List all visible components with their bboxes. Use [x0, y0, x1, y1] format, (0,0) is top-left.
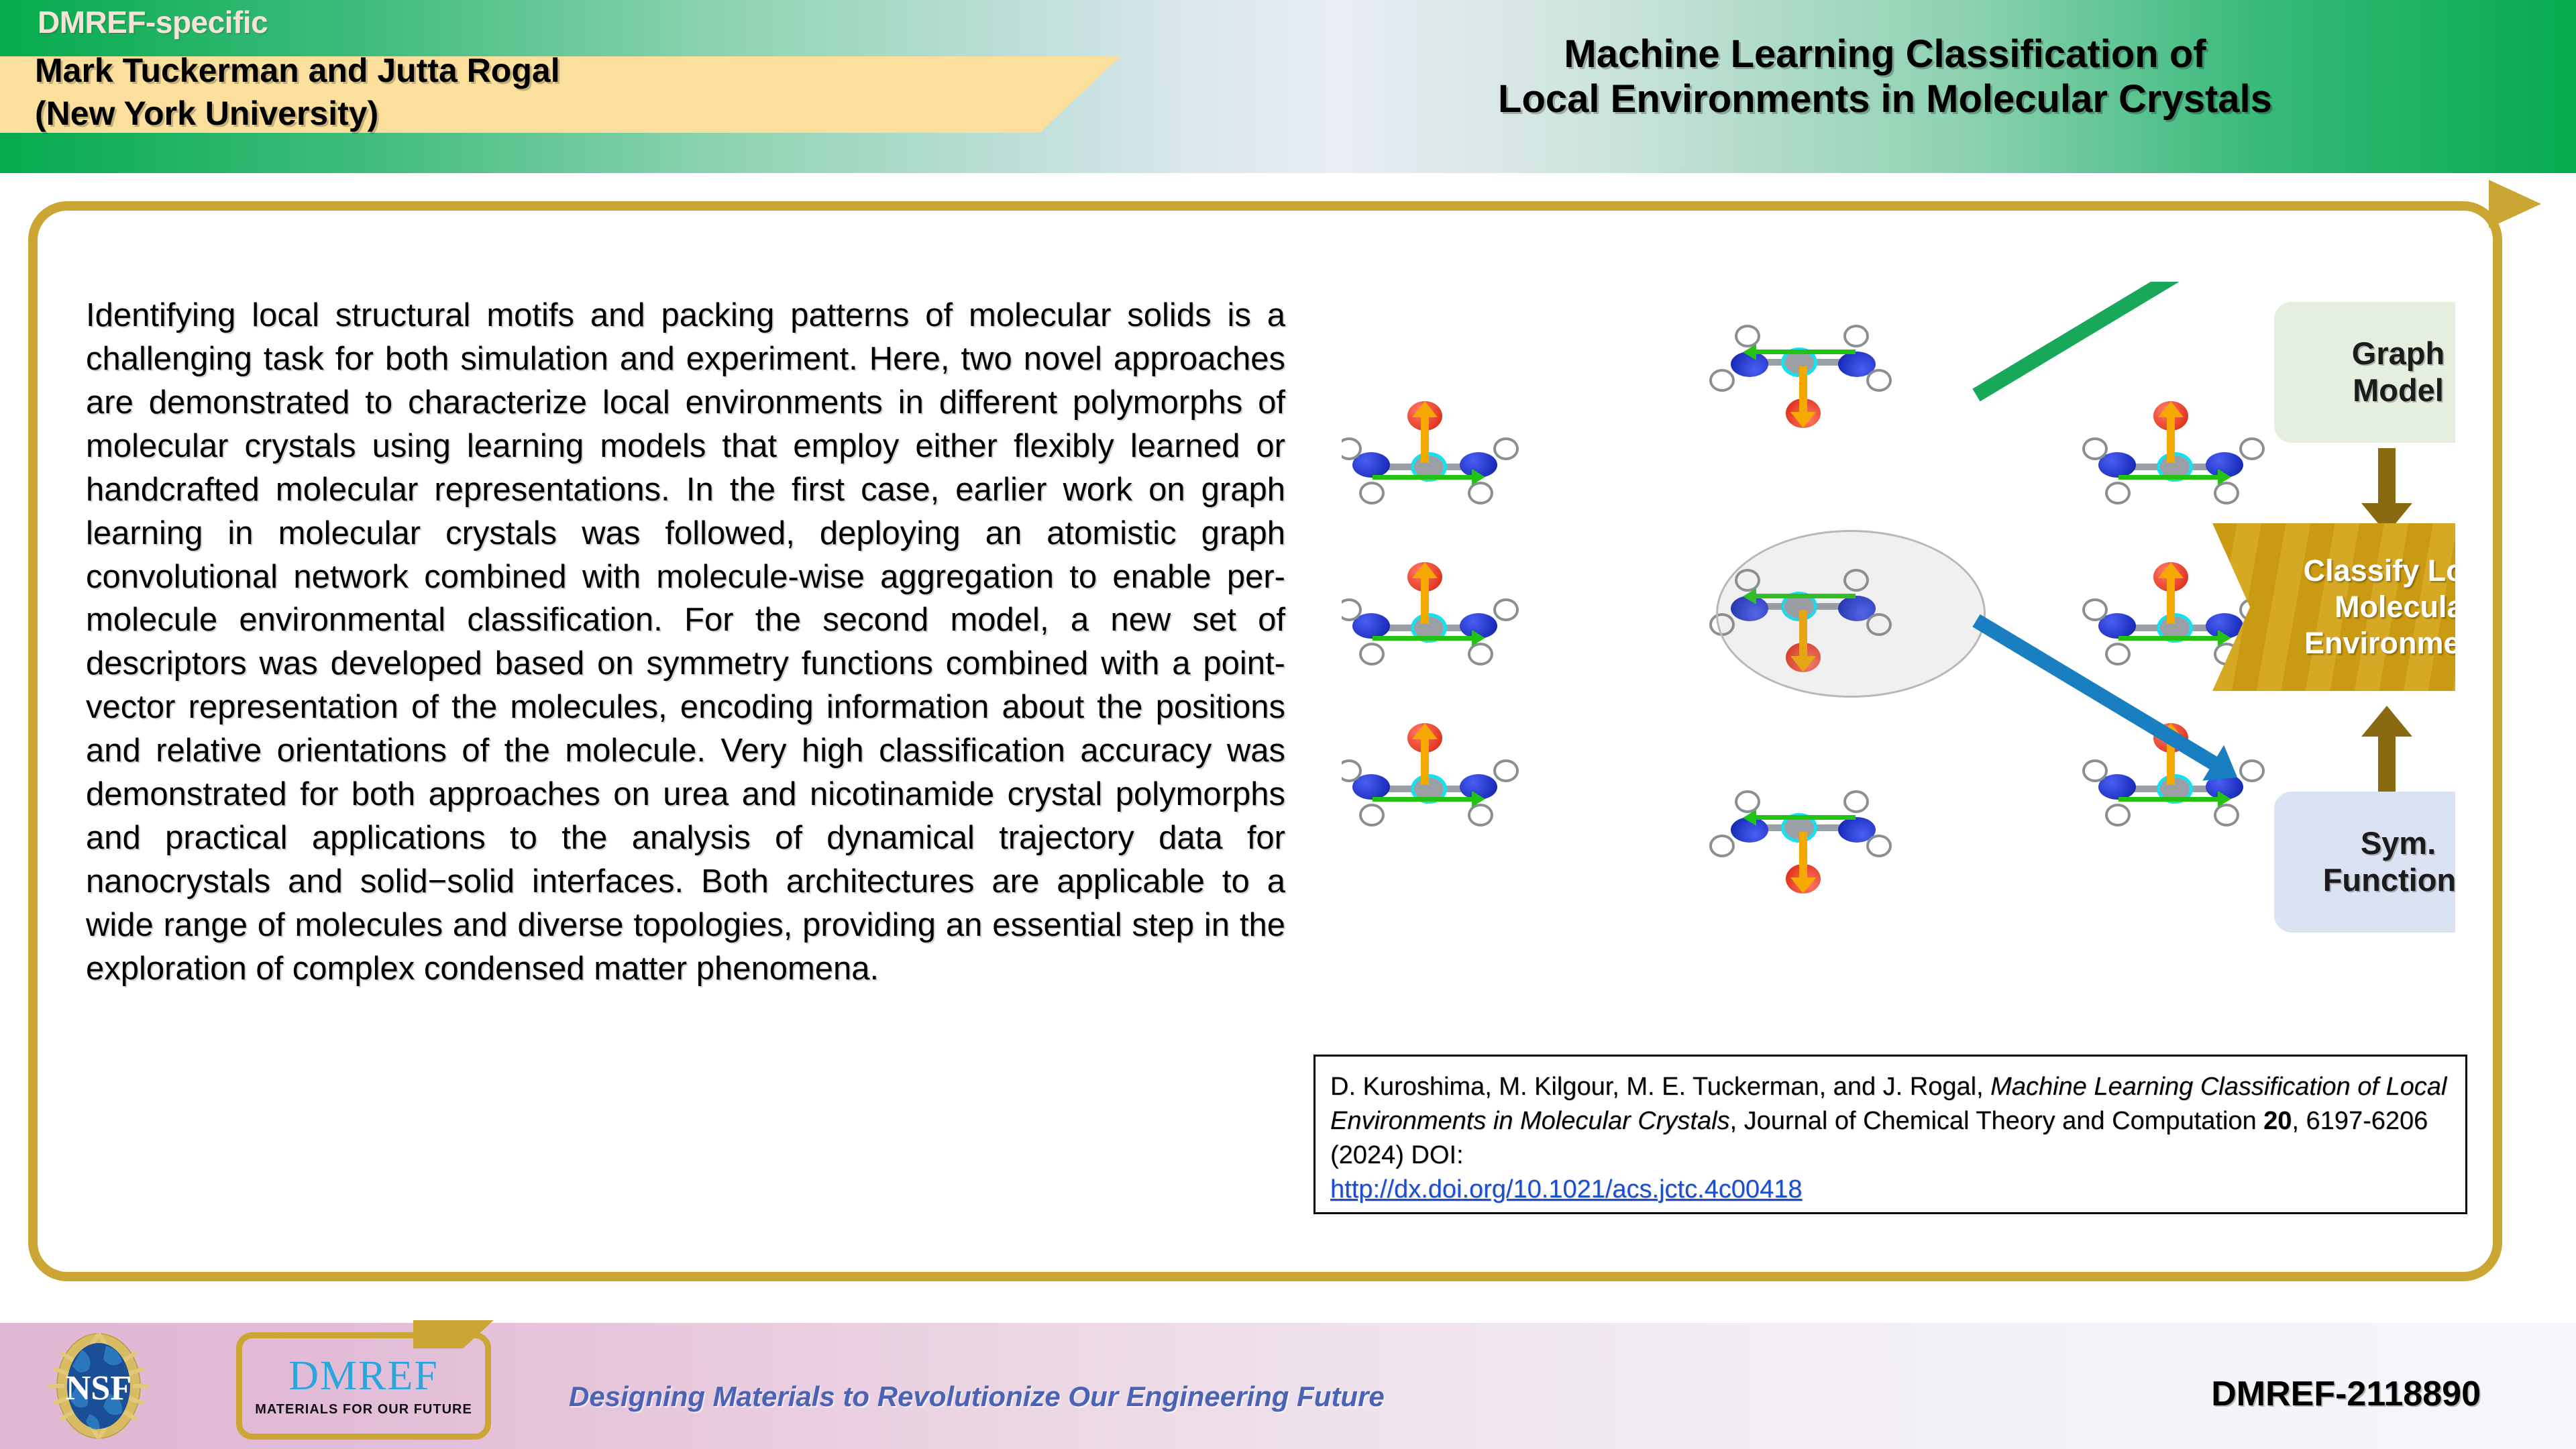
local-environment-highlight	[1716, 530, 1986, 698]
dmref-logo-tagline: MATERIALS FOR OUR FUTURE	[255, 1402, 472, 1417]
page-title-line2: Local Environments in Molecular Crystals	[1308, 77, 2462, 122]
abstract-text: Identifying local structural motifs and …	[86, 294, 1285, 991]
graph-model-box: Graph Model	[2274, 302, 2455, 443]
up-arrow-icon	[2378, 735, 2396, 792]
sym-functions-box: Sym. Functions	[2274, 792, 2455, 932]
citation-volume: 20	[2263, 1107, 2292, 1135]
author-names: Mark Tuckerman and Jutta Rogal	[35, 51, 560, 90]
citation-doi-link[interactable]: http://dx.doi.org/10.1021/acs.jctc.4c004…	[1330, 1173, 1802, 1207]
molecule-unit	[1725, 778, 1880, 899]
award-number: DMREF-2118890	[2211, 1374, 2481, 1414]
page-title-line1: Machine Learning Classification of	[1308, 32, 2462, 77]
program-tagline: Designing Materials to Revolutionize Our…	[569, 1381, 1385, 1413]
frame-arrow-icon	[2489, 180, 2541, 228]
svg-text:NSF: NSF	[66, 1369, 131, 1407]
molecule-unit	[1725, 313, 1880, 433]
citation-journal: , Journal of Chemical Theory and Computa…	[1730, 1107, 2264, 1135]
molecule-unit	[1348, 718, 1503, 839]
citation-authors: D. Kuroshima, M. Kilgour, M. E. Tuckerma…	[1330, 1073, 1990, 1101]
dmref-logo-word: DMREF	[288, 1355, 439, 1397]
figure-graphical-abstract: Graph Model Classify Local Molecular Env…	[1342, 282, 2455, 953]
molecule-unit	[2094, 396, 2249, 517]
author-affiliation: (New York University)	[35, 94, 378, 133]
arrow-to-graph-model	[1972, 282, 2221, 401]
molecule-unit	[2094, 557, 2249, 678]
citation-box: D. Kuroshima, M. Kilgour, M. E. Tuckerma…	[1313, 1055, 2467, 1214]
page-title: Machine Learning Classification of Local…	[1308, 32, 2462, 121]
dmref-specific-badge: DMREF-specific	[38, 4, 268, 40]
citation-text: D. Kuroshima, M. Kilgour, M. E. Tuckerma…	[1330, 1070, 2451, 1207]
nsf-logo: NSF	[42, 1330, 156, 1442]
dmref-logo: DMREF MATERIALS FOR OUR FUTURE	[236, 1332, 491, 1440]
down-arrow-icon	[2378, 448, 2396, 504]
poster-header: DMREF-specific Mark Tuckerman and Jutta …	[0, 0, 2576, 173]
molecule-unit	[1348, 557, 1503, 678]
molecule-unit	[1348, 396, 1503, 517]
